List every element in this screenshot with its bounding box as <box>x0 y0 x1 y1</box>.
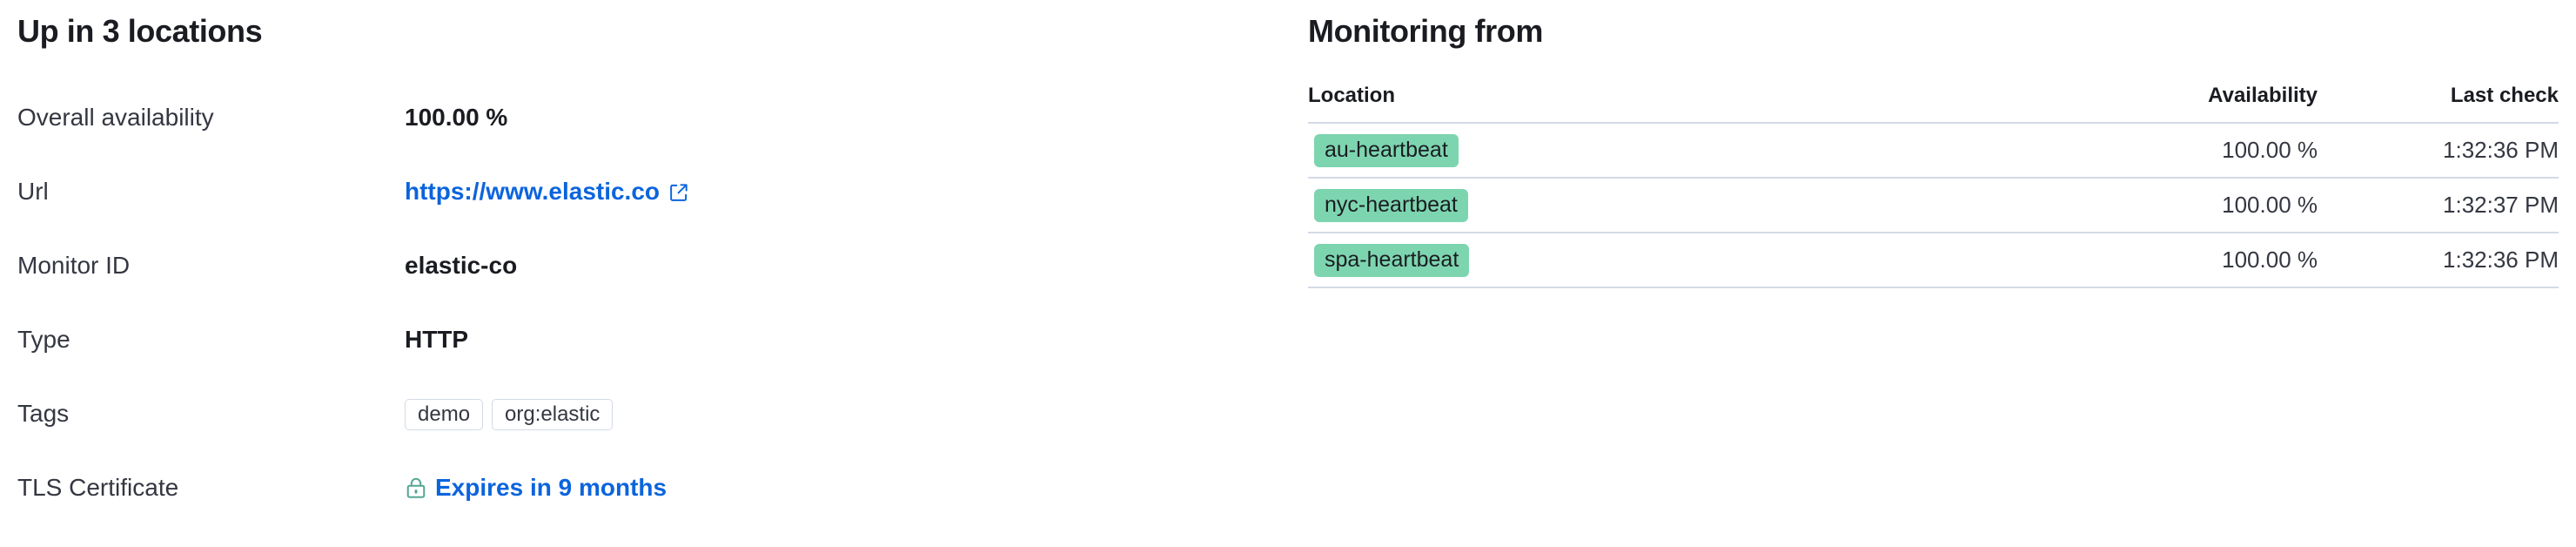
detail-label-type: Type <box>17 325 70 355</box>
cell-availability: 100.00 % <box>1969 178 2318 233</box>
cell-last-check: 1:32:37 PM <box>2318 178 2559 233</box>
column-header-location[interactable]: Location <box>1308 84 1969 123</box>
monitoring-locations-table: Location Availability Last check au-hear… <box>1308 84 2559 288</box>
detail-label-tls-certificate: TLS Certificate <box>17 473 178 503</box>
monitor-detail-page: Up in 3 locations Overall availability 1… <box>0 0 2576 519</box>
cell-availability: 100.00 % <box>1969 233 2318 287</box>
detail-value-monitor-id: elastic-co <box>405 251 517 280</box>
detail-row-url: Url https://www.elastic.co <box>0 177 1297 251</box>
table-row[interactable]: nyc-heartbeat 100.00 % 1:32:37 PM <box>1308 178 2559 233</box>
detail-label-monitor-id: Monitor ID <box>17 251 130 280</box>
tls-certificate-status[interactable]: Expires in 9 months <box>405 473 667 503</box>
monitor-detail-list: Overall availability 100.00 % Url https:… <box>0 103 1297 547</box>
detail-label-overall-availability: Overall availability <box>17 103 214 132</box>
table-body: au-heartbeat 100.00 % 1:32:36 PM nyc-hea… <box>1308 123 2559 287</box>
detail-row-tags: Tags demo org:elastic <box>0 399 1297 473</box>
cell-location: au-heartbeat <box>1308 123 1969 178</box>
detail-value-tls-certificate: Expires in 9 months <box>405 473 667 503</box>
cell-availability: 100.00 % <box>1969 123 2318 178</box>
detail-row-tls-certificate: TLS Certificate Expires in 9 months <box>0 473 1297 547</box>
detail-value-url: https://www.elastic.co <box>405 177 689 206</box>
tag-pill[interactable]: org:elastic <box>492 399 613 430</box>
monitor-summary-panel: Up in 3 locations Overall availability 1… <box>0 0 1297 519</box>
external-link-icon[interactable] <box>668 182 689 203</box>
detail-row-monitor-id: Monitor ID elastic-co <box>0 251 1297 325</box>
table-header-row: Location Availability Last check <box>1308 84 2559 123</box>
detail-value-overall-availability: 100.00 % <box>405 103 507 132</box>
detail-row-overall-availability: Overall availability 100.00 % <box>0 103 1297 177</box>
monitoring-from-title: Monitoring from <box>1308 16 1543 47</box>
table-row[interactable]: spa-heartbeat 100.00 % 1:32:36 PM <box>1308 233 2559 287</box>
tag-list: demo org:elastic <box>405 399 613 430</box>
cell-location: nyc-heartbeat <box>1308 178 1969 233</box>
tls-expiry-label[interactable]: Expires in 9 months <box>435 473 667 503</box>
lock-icon <box>405 476 427 499</box>
location-badge[interactable]: au-heartbeat <box>1314 134 1459 167</box>
detail-row-type: Type HTTP <box>0 325 1297 399</box>
monitoring-locations-panel: Monitoring from Location Availability La… <box>1308 0 2559 519</box>
location-badge[interactable]: spa-heartbeat <box>1314 244 1469 277</box>
detail-label-tags: Tags <box>17 399 69 429</box>
location-badge[interactable]: nyc-heartbeat <box>1314 189 1468 222</box>
table-row[interactable]: au-heartbeat 100.00 % 1:32:36 PM <box>1308 123 2559 178</box>
column-header-availability[interactable]: Availability <box>1969 84 2318 123</box>
detail-value-type: HTTP <box>405 325 468 355</box>
url-link[interactable]: https://www.elastic.co <box>405 177 660 206</box>
table-header: Location Availability Last check <box>1308 84 2559 123</box>
detail-value-tags: demo org:elastic <box>405 399 613 430</box>
cell-last-check: 1:32:36 PM <box>2318 123 2559 178</box>
cell-location: spa-heartbeat <box>1308 233 1969 287</box>
cell-last-check: 1:32:36 PM <box>2318 233 2559 287</box>
page-title: Up in 3 locations <box>17 16 262 47</box>
tag-pill[interactable]: demo <box>405 399 483 430</box>
column-header-last-check[interactable]: Last check <box>2318 84 2559 123</box>
detail-label-url: Url <box>17 177 49 206</box>
